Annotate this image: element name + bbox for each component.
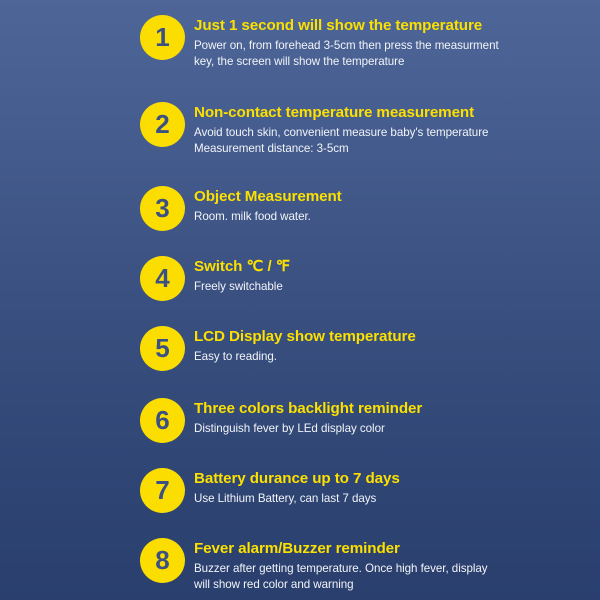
feature-item-7: 7 Battery durance up to 7 days Use Lithi… — [140, 468, 590, 513]
feature-description-line: Avoid touch skin, convenient measure bab… — [194, 125, 590, 141]
feature-text-group: Non-contact temperature measurement Avoi… — [185, 102, 590, 156]
feature-title: Switch ℃ / ℉ — [194, 257, 590, 276]
feature-text-group: Switch ℃ / ℉ Freely switchable — [185, 256, 590, 295]
feature-title: Fever alarm/Buzzer reminder — [194, 539, 590, 558]
feature-title: Object Measurement — [194, 187, 590, 206]
feature-item-5: 5 LCD Display show temperature Easy to r… — [140, 326, 590, 371]
feature-number-badge: 7 — [140, 468, 185, 513]
feature-item-3: 3 Object Measurement Room. milk food wat… — [140, 186, 590, 231]
feature-description: Distinguish fever by LEd display color — [194, 421, 590, 437]
feature-list: 1 Just 1 second will show the temperatur… — [140, 0, 590, 600]
feature-item-8: 8 Fever alarm/Buzzer reminder Buzzer aft… — [140, 538, 590, 592]
feature-description: Avoid touch skin, convenient measure bab… — [194, 125, 590, 156]
feature-item-2: 2 Non-contact temperature measurement Av… — [140, 102, 590, 156]
feature-description: Power on, from forehead 3-5cm then press… — [194, 38, 590, 69]
feature-text-group: Object Measurement Room. milk food water… — [185, 186, 590, 225]
feature-number-badge: 2 — [140, 102, 185, 147]
feature-title: LCD Display show temperature — [194, 327, 590, 346]
feature-title: Battery durance up to 7 days — [194, 469, 590, 488]
feature-text-group: Fever alarm/Buzzer reminder Buzzer after… — [185, 538, 590, 592]
feature-item-6: 6 Three colors backlight reminder Distin… — [140, 398, 590, 443]
feature-text-group: Battery durance up to 7 days Use Lithium… — [185, 468, 590, 507]
feature-description-line: key, the screen will show the temperatur… — [194, 54, 590, 70]
feature-number-badge: 6 — [140, 398, 185, 443]
feature-title: Non-contact temperature measurement — [194, 103, 590, 122]
feature-text-group: Three colors backlight reminder Distingu… — [185, 398, 590, 437]
feature-poster: 1 Just 1 second will show the temperatur… — [0, 0, 600, 600]
feature-description-line: Buzzer after getting temperature. Once h… — [194, 561, 590, 577]
feature-description-line: Distinguish fever by LEd display color — [194, 421, 590, 437]
feature-description: Use Lithium Battery, can last 7 days — [194, 491, 590, 507]
feature-number-badge: 3 — [140, 186, 185, 231]
feature-number-badge: 5 — [140, 326, 185, 371]
feature-title: Just 1 second will show the temperature — [194, 16, 590, 35]
feature-description-line: Measurement distance: 3-5cm — [194, 141, 590, 157]
feature-description: Freely switchable — [194, 279, 590, 295]
feature-description: Room. milk food water. — [194, 209, 590, 225]
feature-title: Three colors backlight reminder — [194, 399, 590, 418]
feature-description-line: Use Lithium Battery, can last 7 days — [194, 491, 590, 507]
feature-text-group: LCD Display show temperature Easy to rea… — [185, 326, 590, 365]
feature-number-badge: 8 — [140, 538, 185, 583]
feature-number-badge: 4 — [140, 256, 185, 301]
feature-description-line: Power on, from forehead 3-5cm then press… — [194, 38, 590, 54]
feature-item-4: 4 Switch ℃ / ℉ Freely switchable — [140, 256, 590, 301]
feature-description-line: Freely switchable — [194, 279, 590, 295]
feature-description-line: Room. milk food water. — [194, 209, 590, 225]
feature-description: Easy to reading. — [194, 349, 590, 365]
feature-number-badge: 1 — [140, 15, 185, 60]
feature-description-line: will show red color and warning — [194, 577, 590, 593]
feature-text-group: Just 1 second will show the temperature … — [185, 15, 590, 69]
feature-item-1: 1 Just 1 second will show the temperatur… — [140, 15, 590, 69]
feature-description-line: Easy to reading. — [194, 349, 590, 365]
feature-description: Buzzer after getting temperature. Once h… — [194, 561, 590, 592]
